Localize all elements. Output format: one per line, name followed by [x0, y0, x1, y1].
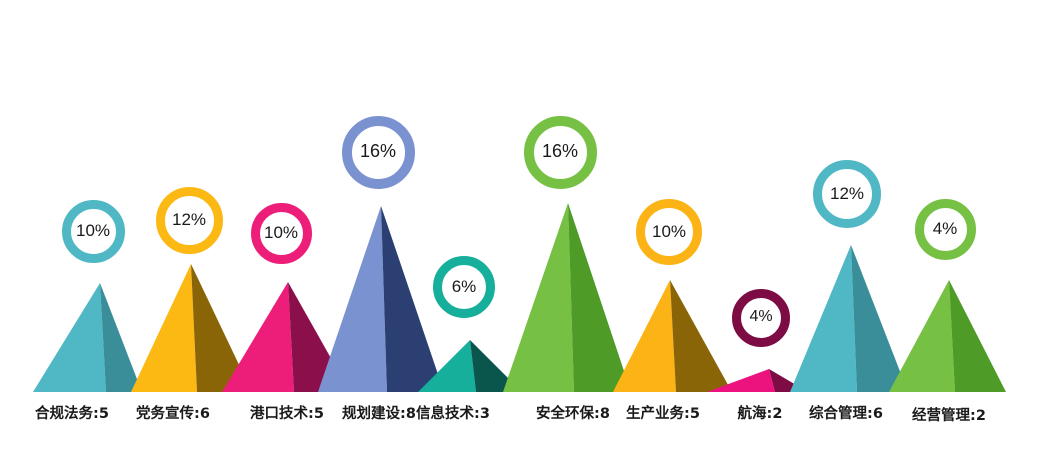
- category-label-hanghai: 航海:2: [738, 402, 783, 423]
- mountain-jingying-guanli: [889, 280, 1006, 392]
- mountain-face-dark: [670, 280, 732, 392]
- percent-value: 16%: [360, 142, 396, 160]
- mountain-face-light: [222, 282, 294, 392]
- category-label-hegui-fawu: 合规法务:5: [35, 402, 109, 423]
- percent-badge-xinxi-jishu: 6%: [433, 256, 495, 318]
- mountain-zonghe-guanli: [790, 245, 908, 392]
- percent-value: 10%: [264, 224, 298, 241]
- percent-badge-dangwu-xuanchuan: 12%: [156, 187, 223, 254]
- mountain-face-light: [503, 203, 574, 392]
- category-label-guihua-jianshe: 规划建设:8: [342, 402, 416, 423]
- percent-badge-jingying-guanli: 4%: [915, 199, 976, 260]
- mountain-guihua-jianshe: [318, 206, 444, 392]
- mountain-face-light: [131, 264, 197, 392]
- percent-badge-gangkou-jishu: 10%: [251, 203, 312, 264]
- percent-value: 4%: [933, 220, 958, 237]
- category-label-zonghe-guanli: 综合管理:6: [809, 402, 883, 423]
- mountain-face-light: [790, 245, 857, 392]
- mountain-face-dark: [949, 280, 1006, 392]
- mountain-face-light: [889, 280, 955, 392]
- mountain-face-dark: [100, 283, 142, 392]
- mountain-hegui-fawu: [33, 283, 142, 392]
- category-label-shengchan-yewu: 生产业务:5: [626, 402, 700, 423]
- percent-value: 10%: [652, 223, 686, 240]
- category-label-dangwu-xuanchuan: 党务宣传:6: [136, 402, 210, 423]
- mountain-shengchan-yewu: [613, 280, 732, 392]
- mountain-face-light: [318, 206, 387, 392]
- percent-badge-zonghe-guanli: 12%: [813, 160, 881, 228]
- mountain-anquan-huanbao: [503, 203, 631, 392]
- mountain-face-light: [613, 280, 676, 392]
- category-label-jingying-guanli: 经营管理:2: [912, 404, 986, 425]
- percent-badge-guihua-jianshe: 16%: [342, 116, 415, 189]
- percent-value: 12%: [830, 185, 864, 202]
- mountain-face-light: [33, 283, 106, 392]
- percent-value: 6%: [452, 278, 477, 295]
- category-label-xinxi-jishu: 信息技术:3: [416, 402, 490, 423]
- percent-badge-anquan-huanbao: 16%: [524, 116, 597, 189]
- category-label-anquan-huanbao: 安全环保:8: [536, 402, 610, 423]
- percent-value: 16%: [542, 142, 578, 160]
- percent-badge-hegui-fawu: 10%: [62, 200, 125, 263]
- mountains-layer: [0, 0, 1038, 455]
- percent-value: 4%: [749, 309, 772, 325]
- percent-value: 12%: [172, 211, 206, 228]
- mountain-face-dark: [851, 245, 908, 392]
- percent-value: 10%: [76, 222, 110, 239]
- category-label-gangkou-jishu: 港口技术:5: [250, 402, 324, 423]
- percent-badge-hanghai: 4%: [732, 289, 790, 347]
- mountain-percentage-chart: 10%12%10%16%6%16%10%4%12%4% 合规法务:5党务宣传:6…: [0, 0, 1038, 455]
- percent-badge-shengchan-yewu: 10%: [636, 199, 702, 265]
- mountain-face-dark: [568, 203, 631, 392]
